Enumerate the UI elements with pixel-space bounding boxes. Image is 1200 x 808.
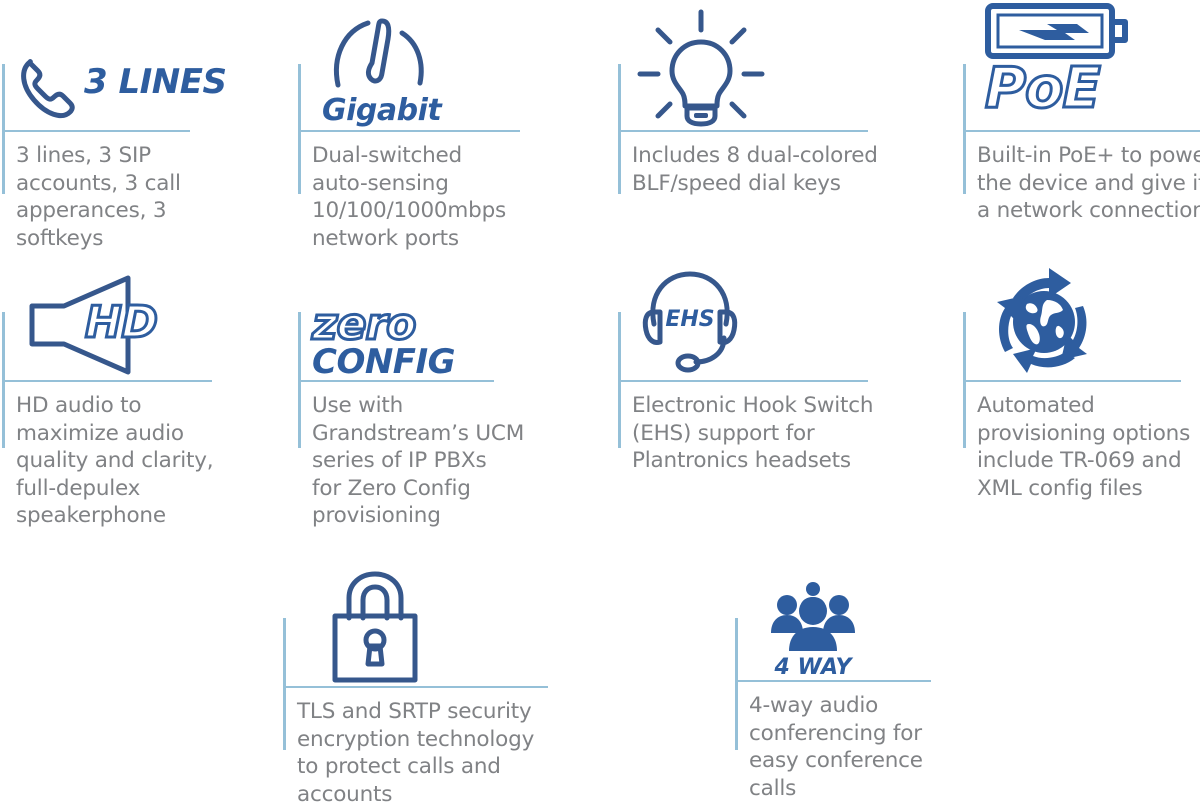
feature-grid: 3 LINES 3 lines, 3 SIP accounts, 3 call … bbox=[0, 0, 1200, 792]
feature-card-poe: PoE Built-in PoE+ to power the device an… bbox=[963, 64, 1200, 264]
vertical-rule bbox=[735, 618, 738, 750]
icon-area-security bbox=[327, 560, 423, 684]
wordmark-zero: zero bbox=[312, 304, 455, 346]
icon-area-blf-keys bbox=[636, 2, 766, 128]
icon-area-hd-audio: HD bbox=[20, 250, 157, 378]
icon-area-gigabit: Gigabit bbox=[322, 4, 441, 128]
phone-handset-icon bbox=[16, 54, 78, 128]
feature-card-security: TLS and SRTP security encryption technol… bbox=[283, 618, 583, 793]
wordmark-poe: PoE bbox=[985, 56, 1100, 121]
description-provisioning: Automated provisioning options include T… bbox=[977, 392, 1200, 502]
vertical-rule bbox=[963, 64, 966, 194]
horizontal-rule bbox=[735, 680, 931, 682]
horizontal-rule bbox=[963, 380, 1181, 382]
feature-card-provisioning: Automated provisioning options include T… bbox=[963, 312, 1200, 532]
horizontal-rule bbox=[283, 686, 548, 688]
wordmark-three-lines: 3 LINES bbox=[84, 62, 226, 102]
headset-icon: EHS bbox=[640, 268, 740, 378]
description-ehs: Electronic Hook Switch (EHS) support for… bbox=[632, 392, 922, 475]
vertical-rule bbox=[618, 64, 621, 194]
vertical-rule bbox=[2, 64, 5, 194]
wordmark-config: CONFIG bbox=[312, 346, 455, 378]
description-gigabit: Dual-switched auto-sensing 10/100/1000mb… bbox=[312, 142, 552, 252]
icon-area-provisioning bbox=[985, 252, 1103, 378]
horizontal-rule bbox=[298, 130, 520, 132]
feature-card-four-way: 4 WAY 4-way audio conferencing for easy … bbox=[735, 618, 995, 793]
people-group-icon bbox=[767, 581, 859, 651]
feature-card-gigabit: Gigabit Dual-switched auto-sensing 10/10… bbox=[298, 64, 578, 264]
speedometer-icon bbox=[328, 15, 436, 89]
description-hd-audio: HD audio to maximize audio quality and c… bbox=[16, 392, 246, 530]
horizontal-rule bbox=[618, 130, 868, 132]
wordmark-gigabit: Gigabit bbox=[322, 93, 441, 128]
vertical-rule bbox=[298, 64, 301, 194]
icon-area-zero-config: zero CONFIG bbox=[312, 288, 455, 378]
zero-config-wordmark-icon: zero CONFIG bbox=[312, 304, 455, 378]
horizontal-rule bbox=[2, 130, 190, 132]
icon-area-four-way: 4 WAY bbox=[767, 570, 859, 680]
wordmark-ehs-text: EHS bbox=[665, 307, 714, 332]
description-four-way: 4-way audio conferencing for easy confer… bbox=[749, 692, 979, 802]
description-three-lines: 3 lines, 3 SIP accounts, 3 call apperanc… bbox=[16, 142, 226, 252]
wordmark-four-way: 4 WAY bbox=[775, 655, 852, 680]
feature-card-hd-audio: HD HD audio to maximize audio quality an… bbox=[2, 312, 282, 532]
description-poe: Built-in PoE+ to power the device and gi… bbox=[977, 142, 1200, 225]
feature-card-zero-config: zero CONFIG Use with Grandstream’s UCM s… bbox=[298, 312, 578, 532]
vertical-rule bbox=[283, 618, 286, 750]
horizontal-rule bbox=[2, 380, 212, 382]
horizontal-rule bbox=[963, 130, 1200, 132]
horizontal-rule bbox=[618, 380, 868, 382]
feature-card-three-lines: 3 LINES 3 lines, 3 SIP accounts, 3 call … bbox=[2, 64, 282, 264]
feature-card-ehs: EHS Electronic Hook Switch (EHS) support… bbox=[618, 312, 918, 532]
description-blf-keys: Includes 8 dual-colored BLF/speed dial k… bbox=[632, 142, 922, 197]
padlock-icon bbox=[327, 570, 423, 684]
icon-area-ehs: EHS bbox=[640, 256, 740, 378]
battery-bolt-icon bbox=[985, 2, 1131, 62]
globe-arrows-icon bbox=[985, 266, 1103, 378]
description-zero-config: Use with Grandstream’s UCM series of IP … bbox=[312, 392, 552, 530]
icon-area-poe: PoE bbox=[985, 2, 1131, 128]
icon-area-three-lines: 3 LINES bbox=[16, 16, 226, 128]
wordmark-hd: HD bbox=[85, 297, 157, 348]
feature-card-blf-keys: Includes 8 dual-colored BLF/speed dial k… bbox=[618, 64, 918, 264]
lightbulb-icon bbox=[636, 8, 766, 128]
